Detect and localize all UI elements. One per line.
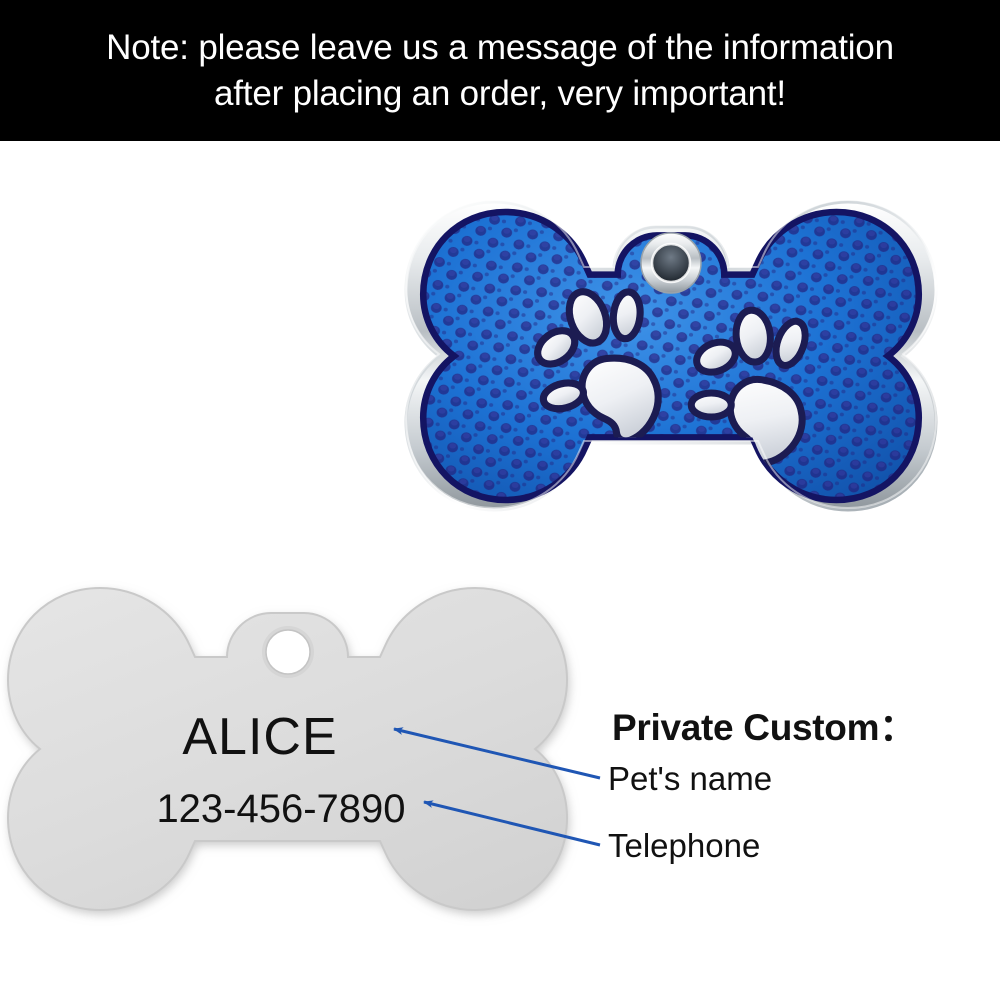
private-custom-title: Private Custom：: [612, 697, 916, 751]
engraved-telephone: 123-456-7890: [156, 787, 405, 831]
note-line-1: Note: please leave us a message of the i…: [106, 25, 894, 71]
blue-enamel-bone-tag: [398, 196, 944, 541]
note-banner: Note: please leave us a message of the i…: [0, 0, 1000, 141]
telephone-label: Telephone: [608, 827, 760, 865]
engraved-bone-tag: ALICE 123-456-7890: [8, 586, 574, 916]
note-line-2: after placing an order, very important!: [214, 71, 786, 117]
engraved-pet-name: ALICE: [182, 708, 337, 766]
pet-name-label: Pet's name: [608, 760, 772, 798]
product-stage: ALICE 123-456-7890 Private Custom： Pet's…: [0, 141, 1000, 1000]
tag-hole: [641, 233, 701, 293]
tag-hole: [262, 626, 314, 678]
